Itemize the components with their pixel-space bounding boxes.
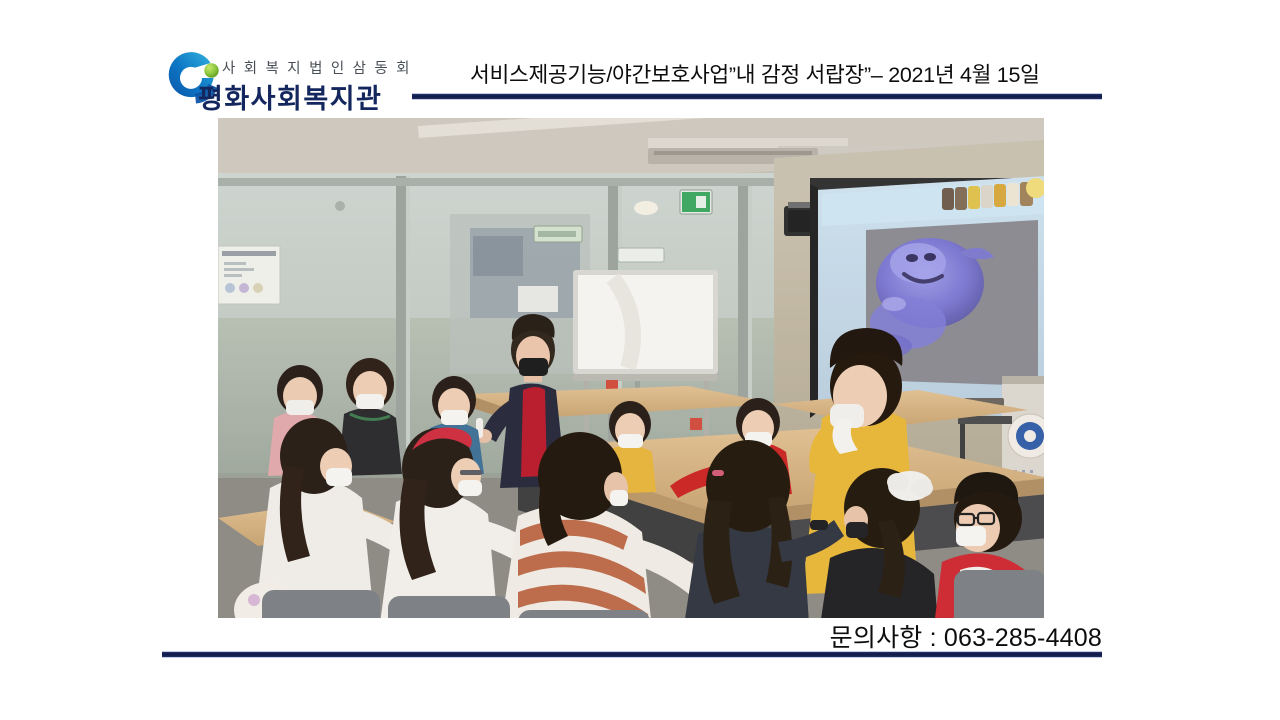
activity-photo [218,118,1044,618]
contact-info: 문의사항 : 063-285-4408 [640,618,1102,654]
footer-divider-rule [162,651,1102,658]
header-divider-rule [412,93,1102,100]
logo-parent-org-label: 사 회 복 지 법 인 삼 동 회 [222,57,412,78]
logo-org-name: 평화사회복지관 [198,77,382,116]
organization-logo: 사 회 복 지 법 인 삼 동 회 평화사회복지관 [164,44,408,116]
presentation-slide: 사 회 복 지 법 인 삼 동 회 평화사회복지관 서비스제공기능/야간보호사업… [0,0,1280,720]
slide-title: 서비스제공기능/야간보호사업”내 감정 서랍장”– 2021년 4월 15일 [470,58,1130,89]
